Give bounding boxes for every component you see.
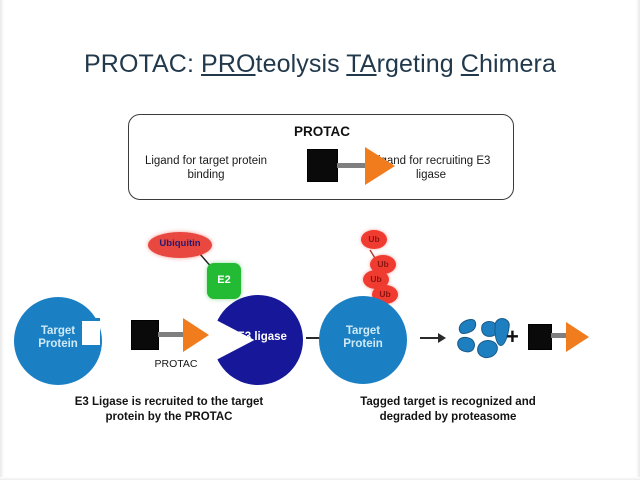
title-underline-ta: TA: [346, 50, 376, 78]
protac-molecule-bound: [131, 318, 221, 358]
target-protein-label-1-line2: Protein: [14, 338, 102, 351]
protac-legend-box: PROTAC Ligand for target protein binding…: [128, 114, 514, 200]
target-protein-label-2: Target Protein: [319, 325, 407, 351]
warhead-square-icon: [307, 149, 338, 182]
caption-step1: E3 Ligase is recruited to the target pro…: [28, 395, 310, 425]
peptide-fragment: [455, 335, 477, 355]
peptide-fragment: [456, 316, 479, 336]
arrow-degradation-head: [438, 333, 446, 343]
e3-ligase-label: E3 ligase: [221, 331, 303, 343]
caption-step2-line2: degraded by proteasome: [330, 410, 566, 425]
e3-binder-triangle-icon: [365, 147, 395, 185]
title-underline-pro: PRO: [201, 50, 255, 78]
caption-step1-line2: protein by the PROTAC: [28, 410, 310, 425]
protac-diagram-canvas: PROTAC: PROteolysis TArgeting Chimera PR…: [0, 0, 640, 480]
title-rest-chimera: himera: [479, 50, 556, 78]
protac-molecule-label: PROTAC: [128, 358, 224, 370]
title-underline-c: C: [461, 50, 479, 78]
e3-binder-triangle-icon: [566, 322, 589, 352]
title-rest-targeting: rgeting: [377, 50, 461, 78]
legend-heading: PROTAC: [129, 124, 515, 139]
title-rest-proteolysis: teolysis: [256, 50, 347, 78]
legend-protac-molecule: [307, 145, 417, 187]
linker-bar-icon: [158, 332, 186, 337]
target-protein-label-2-line2: Protein: [319, 338, 407, 351]
slide-title: PROTAC: PROteolysis TArgeting Chimera: [0, 50, 640, 79]
target-protein-label-1-line1: Target: [14, 325, 102, 338]
warhead-square-icon: [528, 324, 552, 350]
legend-left-label: Ligand for target protein binding: [143, 154, 269, 182]
e3-binder-triangle-icon: [183, 318, 209, 352]
title-prefix: PROTAC:: [84, 50, 201, 78]
protac-molecule-released: [528, 322, 588, 356]
ub-label-2: Ub: [370, 259, 396, 269]
ubiquitin-label: Ubiquitin: [148, 238, 212, 249]
arrow-degradation-line: [420, 337, 440, 339]
ub-label-3: Ub: [363, 274, 389, 284]
target-protein-label-2-line1: Target: [319, 325, 407, 338]
caption-step2-line1: Tagged target is recognized and: [330, 395, 566, 410]
caption-step1-line1: E3 Ligase is recruited to the target: [28, 395, 310, 410]
caption-step2: Tagged target is recognized and degraded…: [330, 395, 566, 425]
e2-enzyme-label: E2: [207, 274, 241, 286]
ub-label-1: Ub: [361, 234, 387, 244]
target-protein-label-1: Target Protein: [14, 325, 102, 351]
plus-sign: +: [506, 326, 519, 348]
warhead-square-icon: [131, 320, 159, 350]
